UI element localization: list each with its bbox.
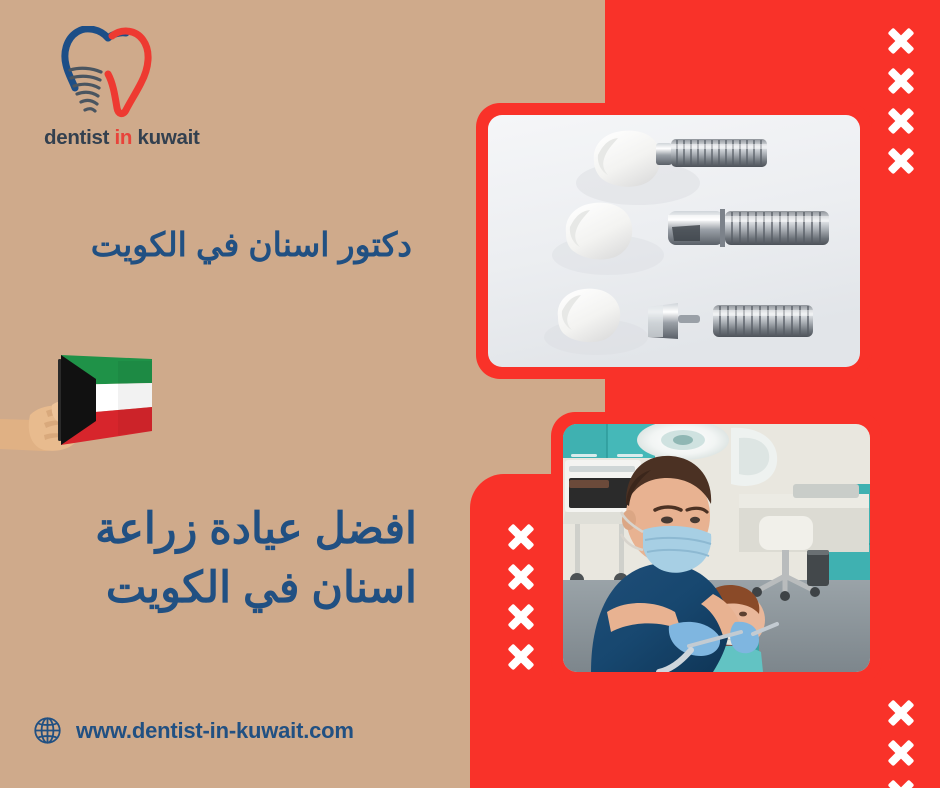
tooth-implant-logo-icon <box>56 26 156 124</box>
logo-word-kuwait: kuwait <box>132 126 199 149</box>
heading-primary: دكتور اسنان في الكويت <box>91 224 412 265</box>
x-icon <box>888 780 914 788</box>
photo-dentist-treating-patient <box>551 412 882 684</box>
hand-holding-kuwait-flag-icon <box>0 345 200 455</box>
x-icon <box>888 740 914 766</box>
x-icon <box>888 28 914 54</box>
website-footer[interactable]: www.dentist-in-kuwait.com <box>33 716 354 745</box>
x-icon <box>888 700 914 726</box>
decoration-x-cluster-top-right <box>888 28 914 188</box>
logo-word-dentist: dentist <box>44 126 115 149</box>
poster-canvas: dentist in kuwait دكتور اسنان في الكويت <box>0 0 940 788</box>
logo-word-in: in <box>115 126 133 149</box>
decoration-x-cluster-mid-left <box>508 524 534 684</box>
heading-secondary: افضل عيادة زراعة اسنان في الكويت <box>95 500 417 619</box>
website-url[interactable]: www.dentist-in-kuwait.com <box>76 718 354 744</box>
photo-dentist-treating-patient-inner <box>563 424 870 672</box>
x-icon <box>508 604 534 630</box>
x-icon <box>888 148 914 174</box>
logo-wordmark: dentist in kuwait <box>44 126 224 150</box>
brand-logo[interactable]: dentist in kuwait <box>44 26 204 156</box>
heading-secondary-line-2: اسنان في الكويت <box>95 559 417 618</box>
photo-dental-implants-inner <box>488 115 860 367</box>
x-icon <box>888 108 914 134</box>
x-icon <box>508 524 534 550</box>
heading-secondary-line-1: افضل عيادة زراعة <box>95 500 417 559</box>
x-icon <box>888 68 914 94</box>
globe-icon <box>33 716 62 745</box>
x-icon <box>508 644 534 670</box>
photo-dental-implants <box>476 103 872 379</box>
decoration-x-cluster-bottom-right <box>888 700 914 788</box>
x-icon <box>508 564 534 590</box>
